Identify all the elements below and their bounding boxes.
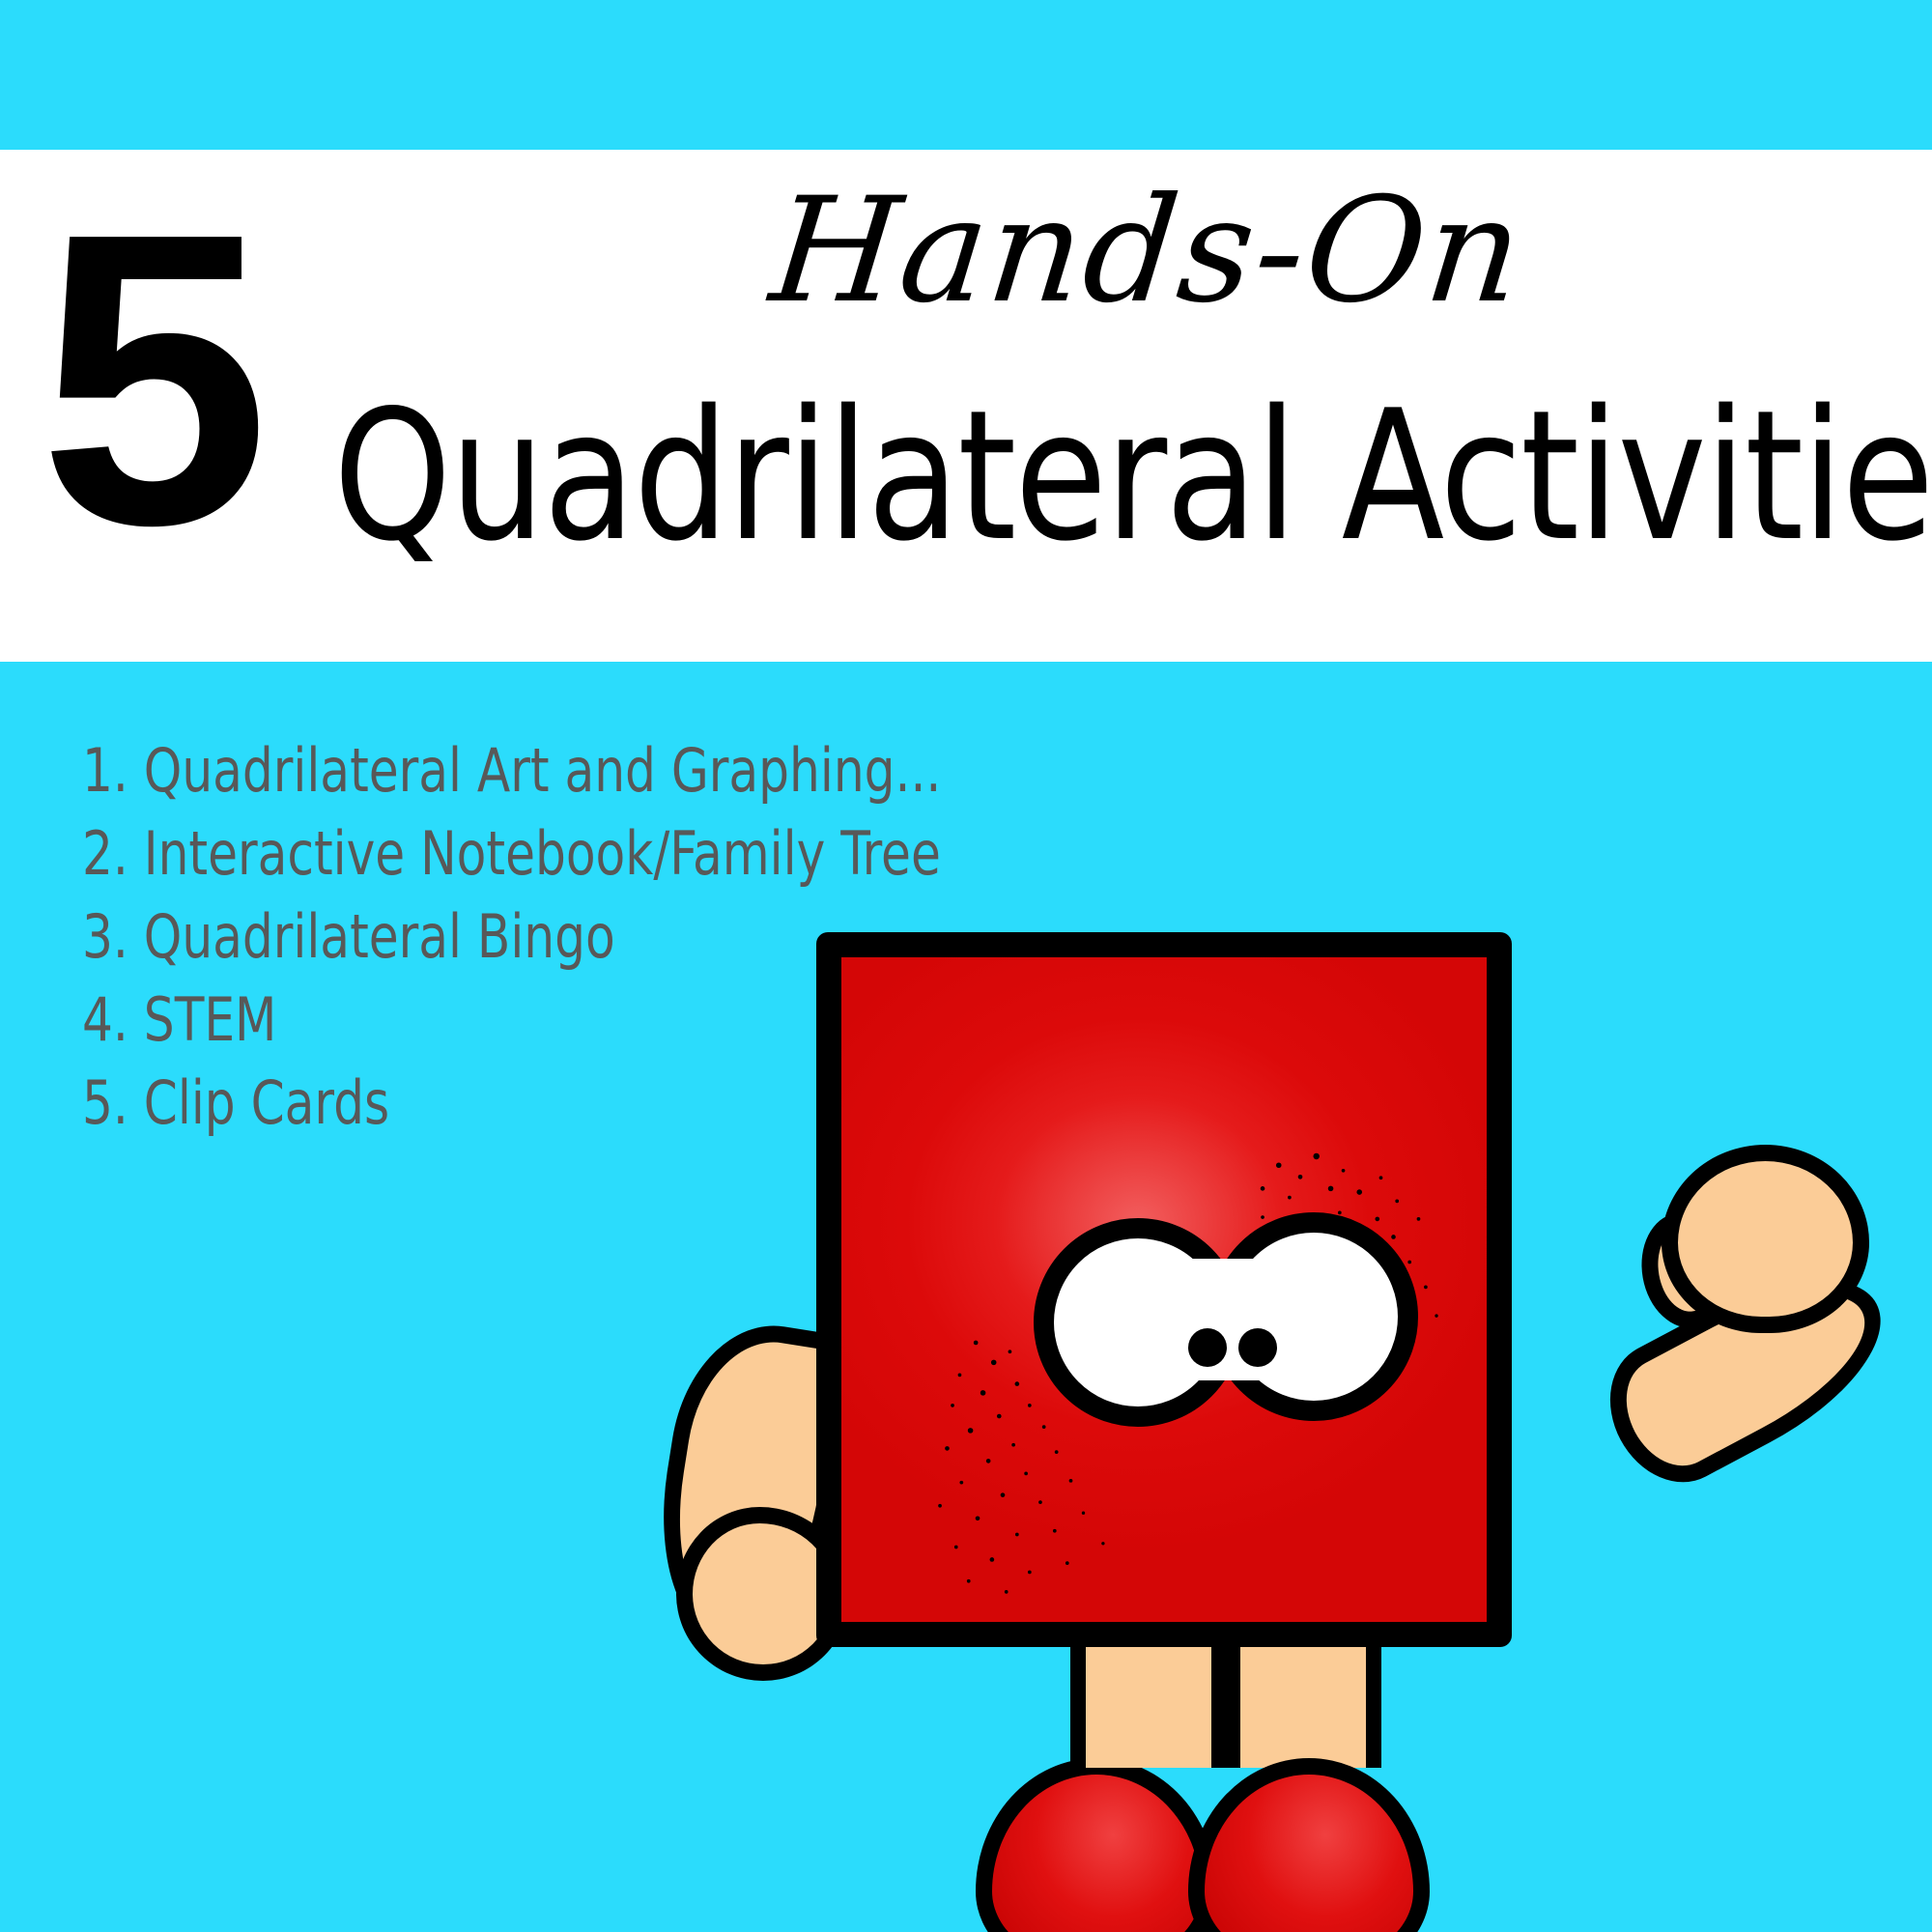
mascot-foot-right [1188, 1758, 1430, 1932]
pupil-right [1238, 1328, 1277, 1367]
mascot-leg-right [1225, 1633, 1381, 1768]
mascot-leg-left [1070, 1633, 1227, 1768]
poster-canvas: 5 Hands-On Quadrilateral Activities 1. Q… [0, 0, 1932, 1932]
red-square-mascot [0, 0, 1932, 1932]
mascot-foot-left [976, 1758, 1217, 1932]
mascot-eyes [1034, 1212, 1420, 1435]
mascot-fist-right [1662, 1145, 1869, 1333]
pupil-left [1188, 1328, 1227, 1367]
